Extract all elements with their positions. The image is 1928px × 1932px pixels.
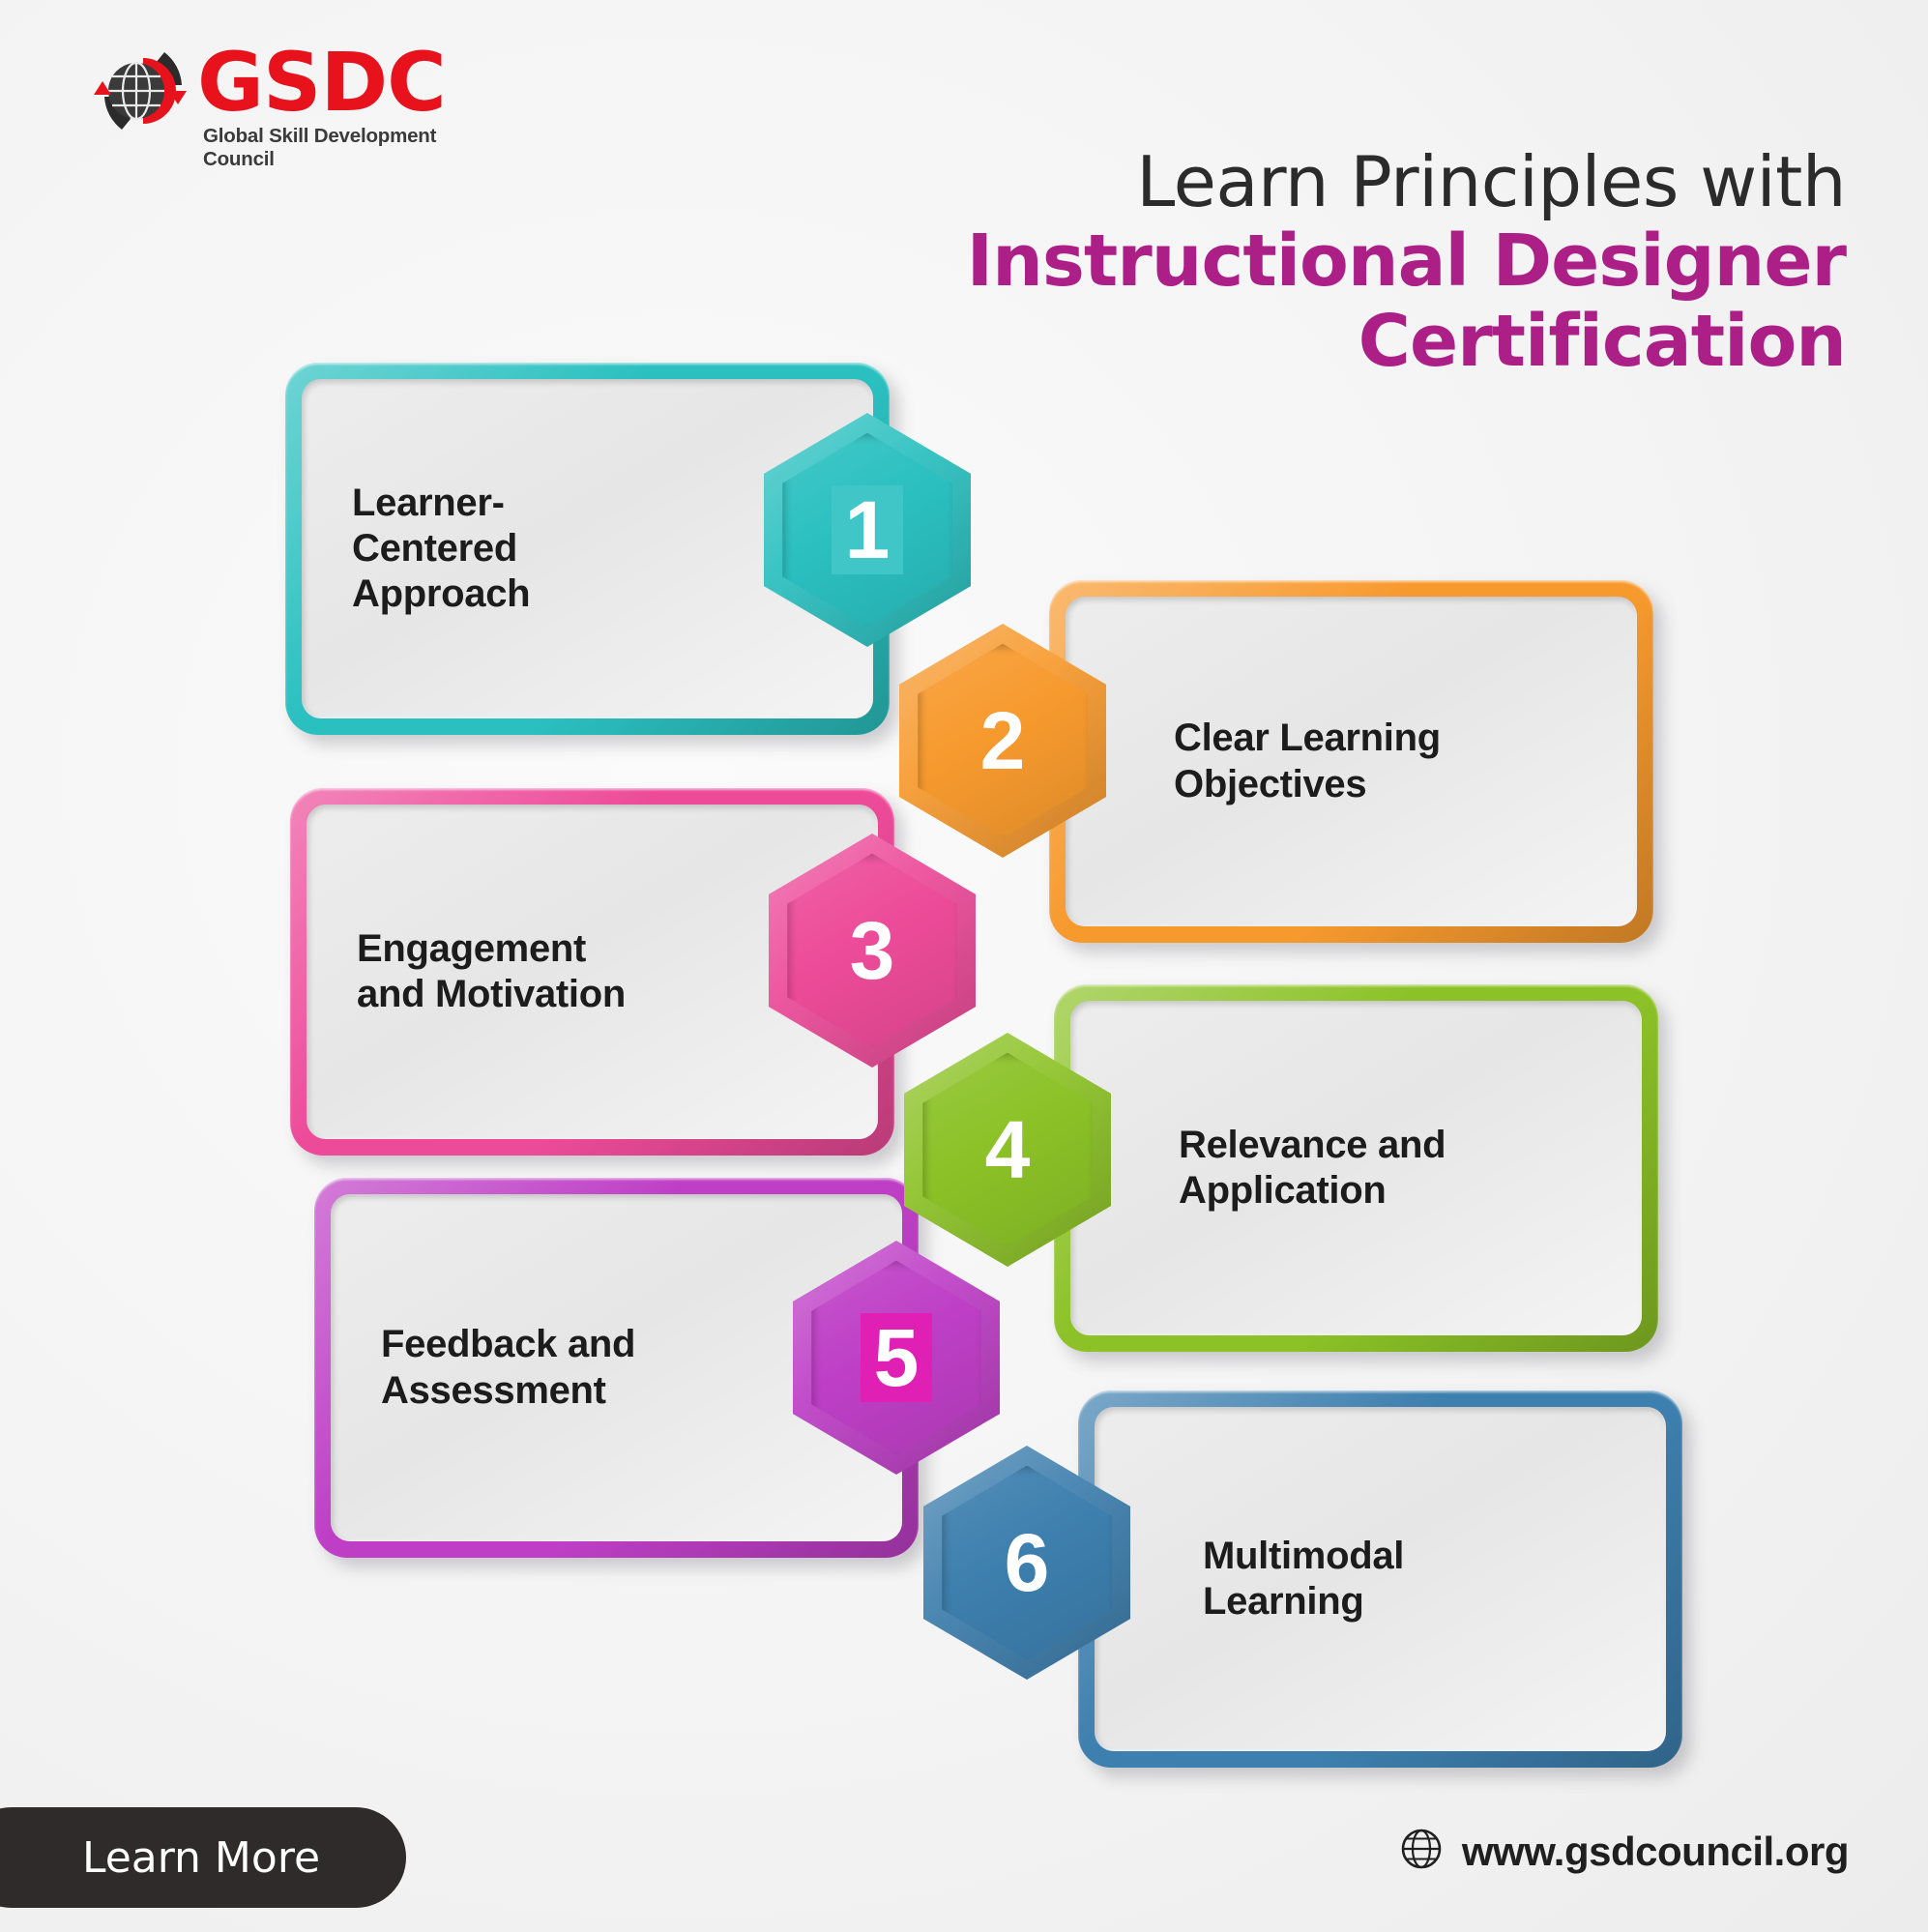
hex-rim: 5 [793,1241,1000,1475]
hex-face: 6 [942,1466,1111,1660]
hex-number-6: 6 [991,1518,1064,1607]
hex-face: 2 [918,644,1087,838]
principle-label-3: Engagement and Motivation [307,926,626,1017]
principles-diagram: Learner- Centered Approach1Clear Learnin… [0,0,1928,1932]
principle-hex-4[interactable]: 4 [904,1033,1111,1267]
hex-number-3: 3 [836,906,909,995]
principle-hex-5[interactable]: 5 [793,1241,1000,1475]
principle-card-6[interactable]: Multimodal Learning [1078,1390,1682,1768]
hex-rim: 4 [904,1033,1111,1267]
principle-hex-1[interactable]: 1 [764,413,971,647]
principle-label-5: Feedback and Assessment [331,1322,635,1413]
hex-face: 5 [811,1261,980,1455]
learn-more-label: Learn More [82,1833,320,1883]
principle-card-4[interactable]: Relevance and Application [1054,984,1658,1352]
principle-label-4: Relevance and Application [1070,1123,1446,1214]
hex-number-2: 2 [967,696,1039,785]
hex-number-4: 4 [972,1105,1044,1194]
principle-card-surface: Clear Learning Objectives [1066,597,1637,926]
hex-face: 4 [922,1053,1092,1247]
principle-hex-6[interactable]: 6 [923,1446,1130,1680]
hex-rim: 6 [923,1446,1130,1680]
hex-rim: 2 [899,624,1106,858]
principle-label-6: Multimodal Learning [1095,1534,1404,1625]
learn-more-button[interactable]: Learn More [0,1807,406,1908]
principle-card-2[interactable]: Clear Learning Objectives [1049,580,1653,943]
hex-face: 3 [787,854,956,1048]
website-footer[interactable]: www.gsdcouncil.org [1398,1826,1849,1877]
hex-face: 1 [782,433,951,628]
website-url: www.gsdcouncil.org [1462,1829,1849,1875]
principle-label-1: Learner- Centered Approach [302,481,530,618]
principle-hex-2[interactable]: 2 [899,624,1106,858]
principle-card-surface: Multimodal Learning [1095,1407,1666,1751]
hex-number-1: 1 [832,485,904,574]
hex-rim: 1 [764,413,971,647]
principle-card-surface: Relevance and Application [1070,1001,1642,1335]
hex-number-5: 5 [861,1313,933,1402]
globe-icon [1398,1826,1445,1877]
principle-label-2: Clear Learning Objectives [1066,716,1441,806]
